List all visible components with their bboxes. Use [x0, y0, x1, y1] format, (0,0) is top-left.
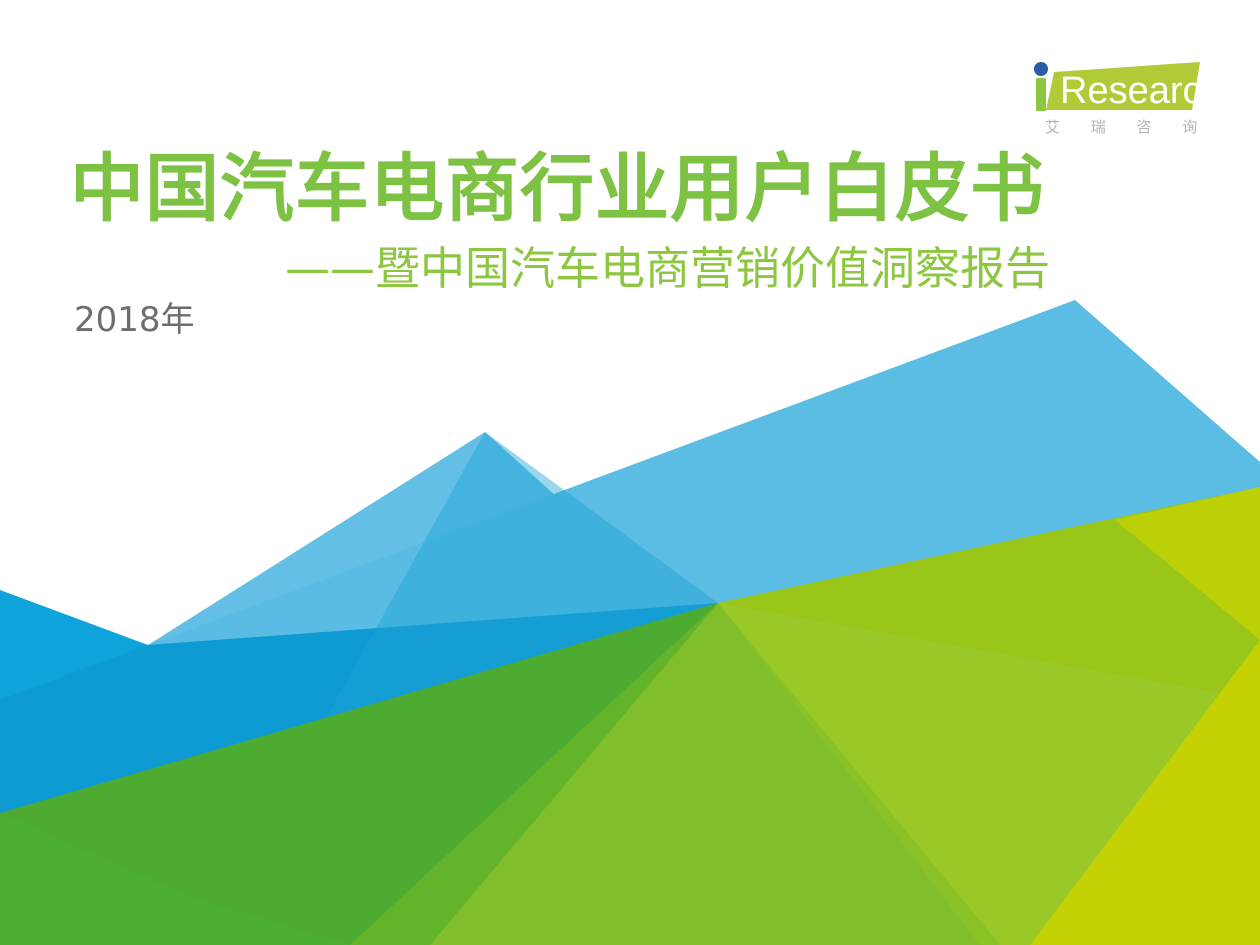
- report-cover-slide: Research 艾 瑞 咨 询 中国汽车电商行业用户白皮书 ——暨中国汽车电商…: [0, 0, 1260, 945]
- page-title: 中国汽车电商行业用户白皮书: [70, 146, 1045, 232]
- iresearch-wordmark-icon: Research: [1030, 58, 1202, 114]
- logo-i-dot: [1034, 62, 1048, 76]
- publication-year: 2018年: [74, 298, 195, 342]
- logo-i-stem: [1036, 78, 1046, 111]
- logo-chinese-label: 艾 瑞 咨 询: [1032, 116, 1200, 137]
- page-subtitle: ——暨中国汽车电商营销价值洞察报告: [0, 242, 1050, 296]
- iresearch-logo: Research 艾 瑞 咨 询: [1030, 58, 1202, 148]
- logo-research-text: Research: [1060, 70, 1202, 112]
